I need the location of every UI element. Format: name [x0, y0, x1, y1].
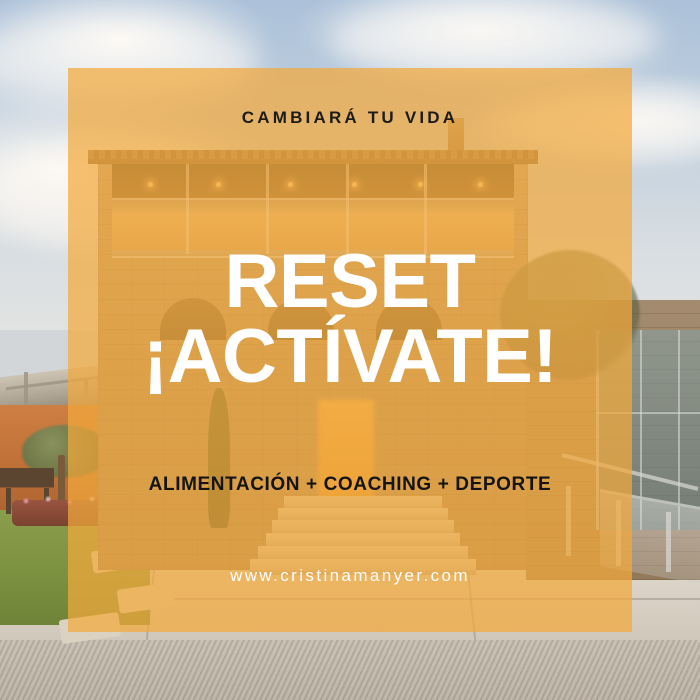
glazing-mullion [678, 330, 680, 530]
pavement-grain [0, 640, 700, 700]
eyebrow-text: CAMBIARÁ TU VIDA [68, 108, 632, 128]
headline-line-2: ¡ACTÍVATE! [68, 319, 632, 394]
garden-bench-leg [6, 488, 11, 514]
headline-line-1: RESET [68, 244, 632, 319]
headline-block: RESET ¡ACTÍVATE! [68, 244, 632, 394]
website-url: www.cristinamanyer.com [68, 566, 632, 586]
handrail-post [666, 512, 671, 572]
pergola-beam [24, 372, 28, 406]
poster-canvas: CAMBIARÁ TU VIDA RESET ¡ACTÍVATE! ALIMEN… [0, 0, 700, 700]
services-text: ALIMENTACIÓN + COACHING + DEPORTE [68, 474, 632, 496]
